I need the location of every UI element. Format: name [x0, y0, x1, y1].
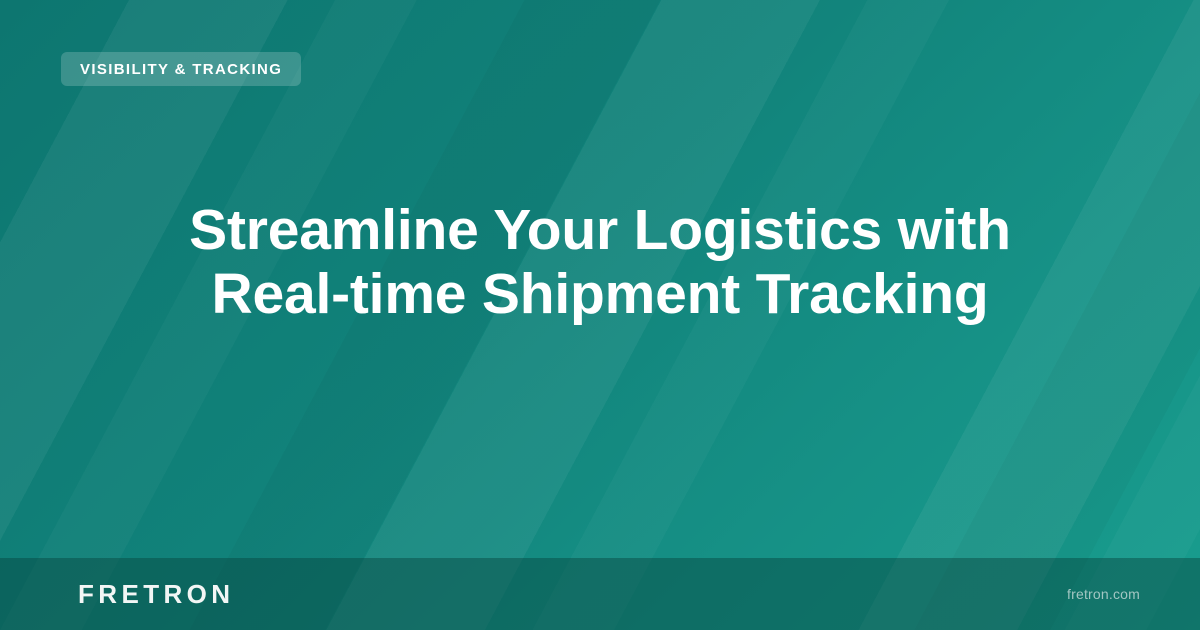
- headline: Streamline Your Logistics with Real-time…: [0, 198, 1200, 326]
- website-url-text: fretron.com: [1067, 587, 1140, 601]
- promo-banner: VISIBILITY & TRACKING Streamline Your Lo…: [0, 0, 1200, 630]
- category-badge-label: VISIBILITY & TRACKING: [80, 62, 282, 77]
- headline-line-1: Streamline Your Logistics with: [120, 198, 1080, 262]
- headline-line-2: Real-time Shipment Tracking: [120, 262, 1080, 326]
- brand-logo-text: FRETRON: [78, 581, 234, 607]
- footer-bar: FRETRON fretron.com: [0, 558, 1200, 630]
- category-badge: VISIBILITY & TRACKING: [61, 52, 301, 86]
